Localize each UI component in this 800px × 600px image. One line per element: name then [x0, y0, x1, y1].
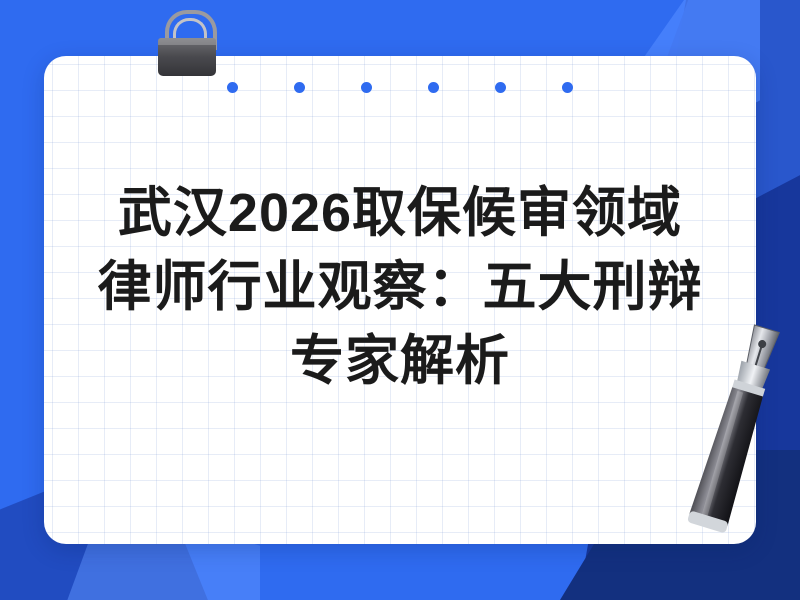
punch-hole-icon [428, 82, 439, 93]
punch-hole-icon [227, 82, 238, 93]
binder-clip-body [158, 38, 216, 76]
binder-clip-icon [152, 8, 222, 80]
title-line-2: 律师行业观察：五大刑辩 [80, 250, 720, 324]
title-line-1: 武汉2026取保候审领域 [80, 176, 720, 250]
punch-hole-icon [562, 82, 573, 93]
title-line-3: 专家解析 [80, 324, 720, 398]
content-card: 武汉2026取保候审领域 律师行业观察：五大刑辩 专家解析 [44, 56, 756, 544]
punch-hole-icon [495, 82, 506, 93]
punch-hole-row [44, 80, 756, 94]
punch-hole-icon [294, 82, 305, 93]
poster-canvas: 武汉2026取保候审领域 律师行业观察：五大刑辩 专家解析 [0, 0, 800, 600]
poster-title: 武汉2026取保候审领域 律师行业观察：五大刑辩 专家解析 [44, 176, 756, 398]
fountain-pen-icon [660, 318, 800, 548]
punch-hole-icon [361, 82, 372, 93]
